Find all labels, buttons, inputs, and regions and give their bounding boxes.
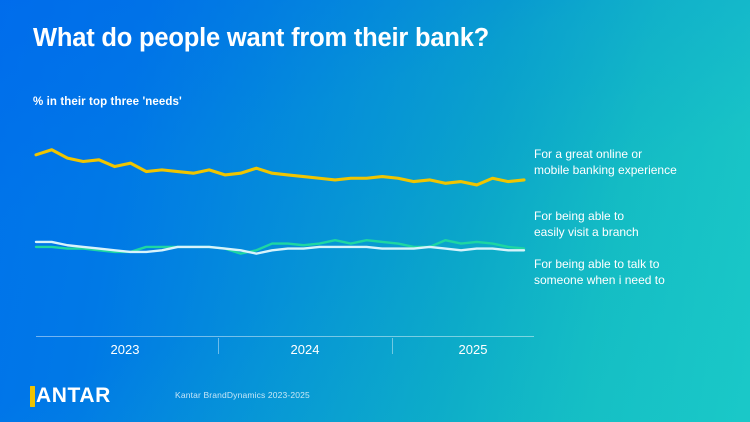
axis-tick-1 — [218, 338, 219, 354]
page-title: What do people want from their bank? — [33, 24, 489, 53]
kantar-logo-accent-bar — [30, 386, 35, 407]
kantar-logo: ANTAR — [30, 384, 111, 408]
legend-label-line2: easily visit a branch — [534, 224, 744, 240]
chart-subtitle: % in their top three 'needs' — [33, 96, 182, 108]
series-online-banking — [36, 150, 524, 185]
legend-item-talk-someone[interactable]: For being able to talk to someone when i… — [534, 256, 744, 288]
axis-tick-2 — [392, 338, 393, 354]
legend-label-line1: For a great online or — [534, 146, 744, 162]
legend-label-line1: For being able to — [534, 208, 744, 224]
axis-label-2025: 2025 — [428, 342, 518, 357]
axis-label-2023: 2023 — [80, 342, 170, 357]
source-attribution: Kantar BrandDynamics 2023-2025 — [175, 390, 310, 400]
line-chart — [30, 120, 530, 335]
x-axis: 2023 2024 2025 — [36, 336, 534, 360]
legend-label-line1: For being able to talk to — [534, 256, 744, 272]
chart-svg — [30, 120, 530, 335]
legend-item-visit-branch[interactable]: For being able to easily visit a branch — [534, 208, 744, 240]
legend-label-line2: someone when i need to — [534, 272, 744, 288]
axis-label-2024: 2024 — [260, 342, 350, 357]
axis-baseline — [36, 336, 534, 337]
legend-item-online-banking[interactable]: For a great online or mobile banking exp… — [534, 146, 744, 178]
kantar-logo-text: ANTAR — [36, 384, 111, 408]
series-visit-branch — [36, 240, 524, 253]
legend-label-line2: mobile banking experience — [534, 162, 744, 178]
slide-canvas: What do people want from their bank? % i… — [0, 0, 750, 422]
